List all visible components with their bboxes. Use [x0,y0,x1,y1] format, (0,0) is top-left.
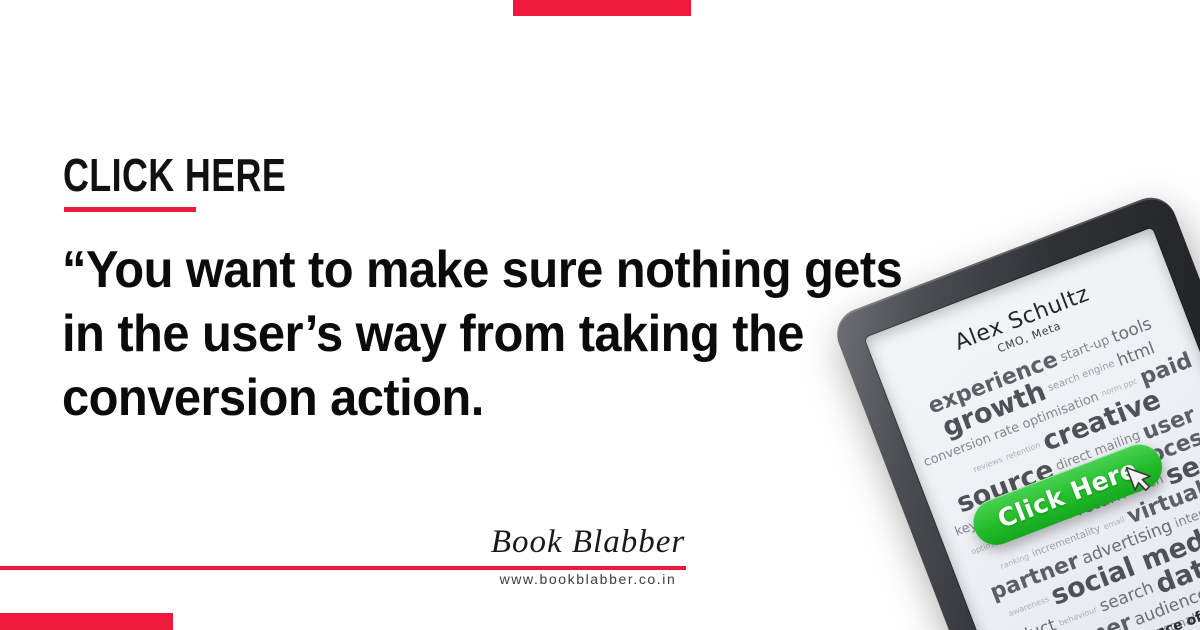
eyebrow-heading: CLICK HERE [63,152,286,198]
word-cloud-term: reviews [972,455,1003,473]
eyebrow-underline-rule [64,207,196,212]
brand-url: www.bookblabber.co.in [488,570,688,588]
device-screen: Alex Schultz CMO, Meta experiencestart-u… [865,227,1200,630]
bottom-left-red-accent-bar [0,613,173,630]
brand-logo: Book Blabber www.bookblabber.co.in [488,524,688,588]
poster-canvas: CLICK HERE “You want to make sure nothin… [0,0,1200,630]
brand-name: Book Blabber [488,524,688,560]
quote-text: “You want to make sure nothing gets in t… [62,238,936,430]
word-cloud-term: start-up [1059,333,1112,364]
word-cloud-term: product [991,617,1058,630]
word-cloud-term: email [1103,516,1126,531]
ereader-device: Alex Schultz CMO, Meta experiencestart-u… [830,151,1200,630]
word-cloud-term: awareness [1007,595,1050,618]
top-red-accent-bar [513,0,691,16]
